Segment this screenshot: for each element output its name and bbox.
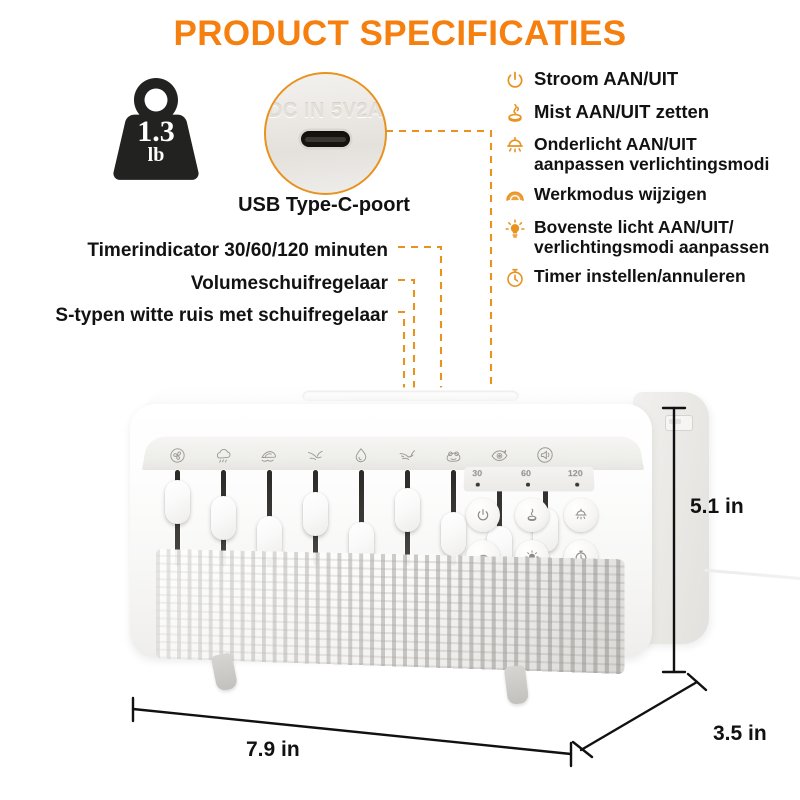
cloud-thunder-icon — [200, 443, 246, 466]
feature-label: Mist AAN/UIT zetten — [534, 101, 709, 122]
timer-led-30 — [476, 483, 480, 486]
feature-label: Onderlicht AAN/UITaanpassen verlichtings… — [534, 134, 769, 175]
device-illustration: 30 60 120 — [128, 378, 688, 698]
white-noise-sliders-label: S-typen witte ruis met schuifregelaar — [55, 305, 388, 327]
timer-indicator-strip: 30 60 120 — [463, 467, 594, 491]
timer-mark-30: 30 — [472, 469, 482, 478]
side-vent-icon — [665, 415, 693, 431]
page-title: PRODUCT SPECIFICATIES — [0, 14, 800, 54]
feature-item-top-light: Bovenste licht AAN/UIT/verlichtingsmodi … — [503, 217, 800, 258]
mist-outlet-slot — [302, 391, 518, 400]
device-mist-button[interactable] — [515, 498, 549, 532]
feature-item-timer: Timer instellen/annuleren — [503, 266, 800, 290]
ocean-eye-icon — [476, 443, 522, 466]
slider-knob[interactable] — [211, 496, 236, 540]
slider-knob[interactable] — [303, 492, 328, 536]
water-drop-icon — [338, 443, 384, 466]
bottom-light-icon — [503, 134, 527, 158]
timer-mark-120: 120 — [568, 469, 583, 478]
frog-icon — [430, 443, 476, 466]
height-label: 5.1 in — [690, 495, 744, 519]
fan-icon — [154, 443, 200, 466]
slider-knob[interactable] — [165, 480, 190, 524]
weight-badge: 1.3 lb — [113, 76, 199, 180]
feature-item-bottom-light: Onderlicht AAN/UITaanpassen verlichtings… — [503, 134, 800, 175]
feature-label: Stroom AAN/UIT — [534, 68, 678, 89]
mist-icon — [503, 101, 527, 125]
dc-in-embossed-text: DC IN 5V2A — [266, 100, 385, 123]
width-dimension-line — [133, 709, 571, 754]
slider-knob[interactable] — [395, 488, 420, 532]
timer-mark-60: 60 — [521, 469, 531, 478]
usb-port-label: USB Type-C-poort — [214, 194, 434, 217]
feature-label: Timer instellen/annuleren — [534, 266, 746, 286]
power-cord — [704, 569, 800, 583]
feature-label: Werkmodus wijzigen — [534, 184, 707, 204]
timer-icon — [503, 266, 527, 290]
timer-led-120 — [575, 483, 579, 486]
depth-label: 3.5 in — [713, 722, 767, 746]
device-bottom-light-button[interactable] — [564, 498, 598, 532]
device-foot-right — [504, 665, 529, 705]
speaker-volume-icon — [522, 443, 568, 466]
timer-indicator-label: Timerindicator 30/60/120 minuten — [87, 240, 388, 262]
device-body: 30 60 120 — [130, 404, 652, 658]
top-light-icon — [503, 217, 527, 241]
wave-icon — [246, 443, 292, 466]
feature-item-mist: Mist AAN/UIT zetten — [503, 101, 800, 125]
power-icon — [503, 68, 527, 92]
feature-list: Stroom AAN/UIT Mist AAN/UIT zetten — [503, 68, 800, 299]
feature-item-power: Stroom AAN/UIT — [503, 68, 800, 92]
usb-port-photo-circle: DC IN 5V2A — [264, 72, 387, 195]
device-power-button[interactable] — [466, 498, 500, 532]
volume-slider-label: Volumeschuifregelaar — [191, 273, 388, 295]
infographic-canvas: PRODUCT SPECIFICATIES 1.3 lb DC IN 5V2A … — [0, 0, 800, 800]
timer-led-60 — [526, 483, 530, 486]
feature-item-work-mode: Werkmodus wijzigen — [503, 184, 800, 208]
swallow-bird-icon — [384, 443, 430, 466]
slider-icon-row — [154, 444, 644, 466]
width-label: 7.9 in — [246, 738, 300, 762]
work-mode-icon — [503, 184, 527, 208]
feature-label: Bovenste licht AAN/UIT/verlichtingsmodi … — [534, 217, 769, 258]
usb-c-port-icon — [301, 131, 350, 147]
bird-flying-icon — [292, 443, 338, 466]
weight-unit: lb — [113, 144, 199, 167]
